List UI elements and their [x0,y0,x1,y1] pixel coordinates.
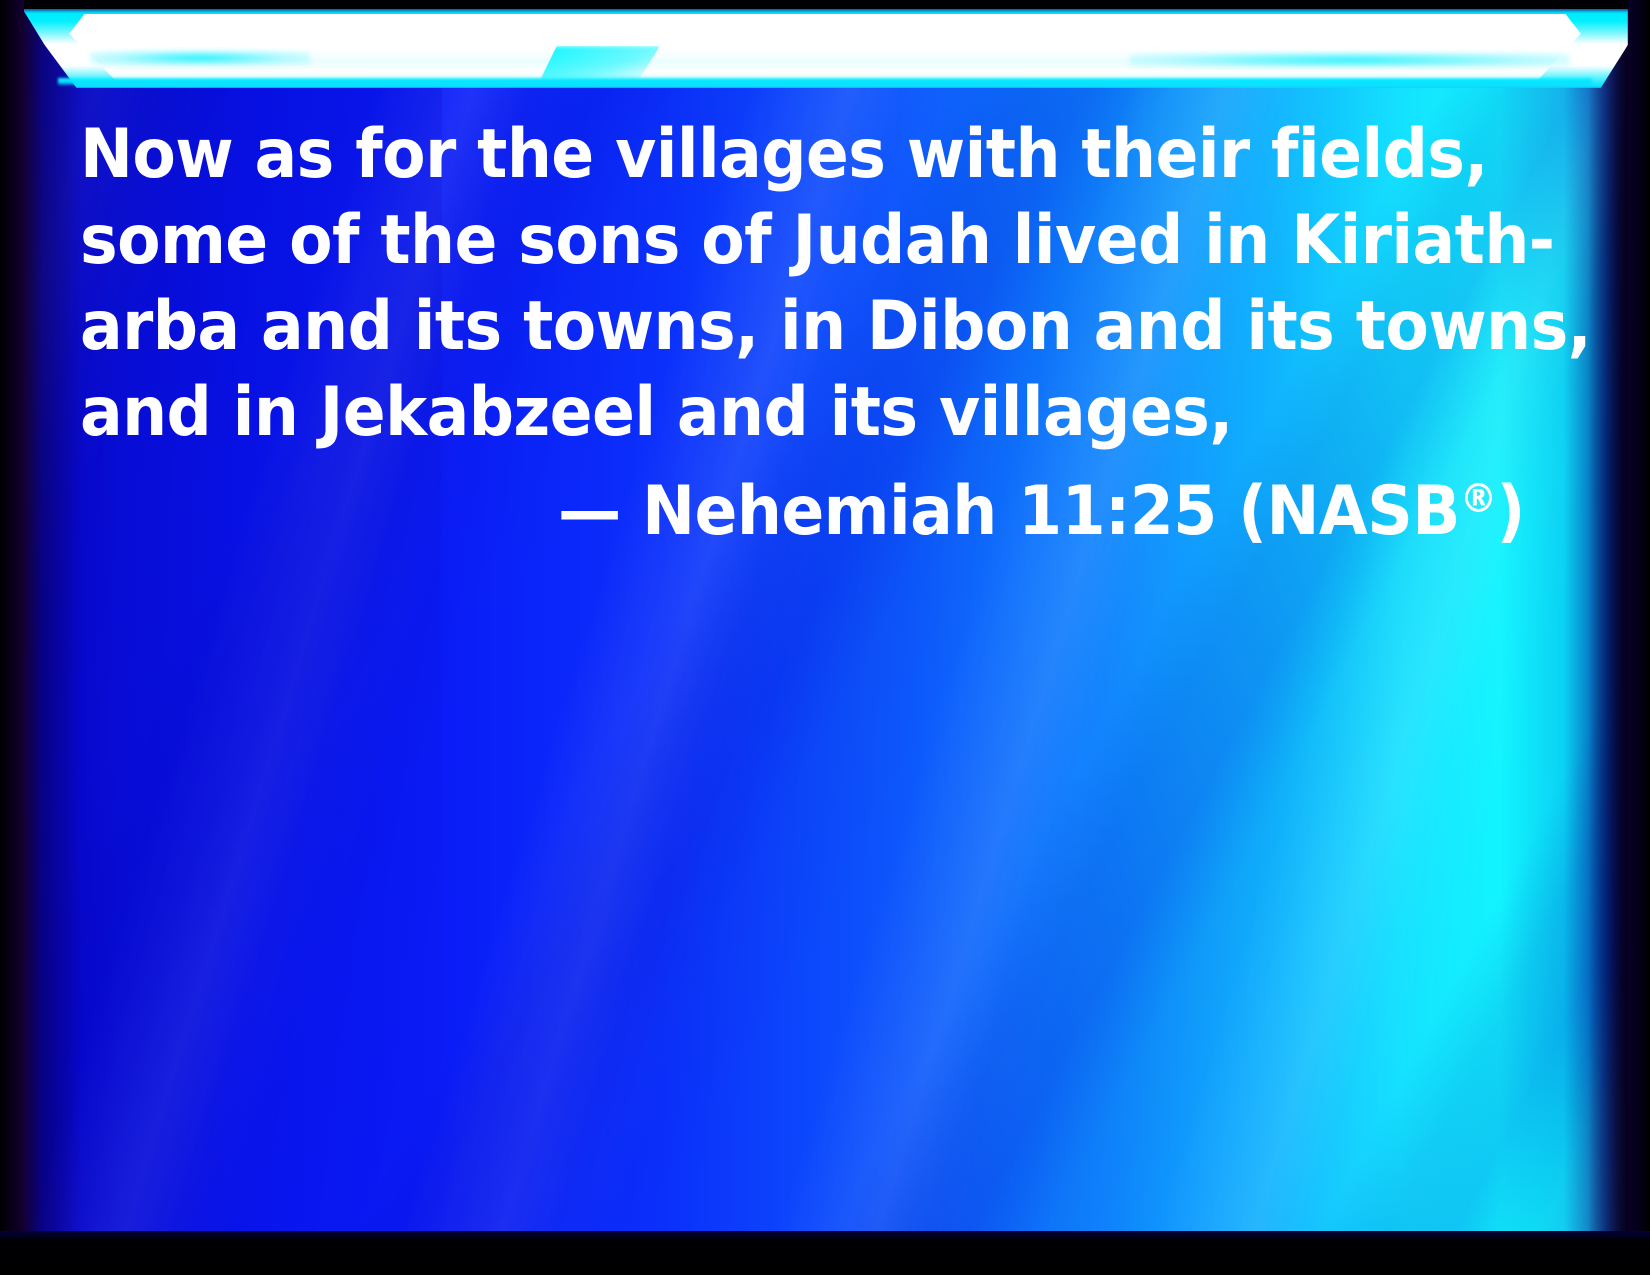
citation-translation-close: ) [1497,472,1525,551]
registered-trademark-icon: ® [1460,476,1497,522]
top-bar-underline [58,78,1592,86]
verse-line-2: some of the sons of Judah lived in Kiria… [0,198,1535,284]
verse-text-block: Now as for the villages with their field… [0,112,1650,555]
verse-citation: — Nehemiah 11:25 (NASB®) [0,456,1535,555]
citation-chapter-verse: 11:25 [1018,472,1217,551]
left-black-border [0,0,24,1275]
verse-line-1: Now as for the villages with their field… [0,112,1535,198]
citation-space [997,472,1018,551]
top-bar-wisp-right [1130,52,1570,68]
top-bar-wisp-left [90,50,310,66]
verse-line-3: arba and its towns, in Dibon and its tow… [0,284,1535,370]
citation-translation-open: (NASB [1217,472,1460,551]
top-black-border [0,0,1650,9]
citation-book: Nehemiah [642,472,997,551]
right-black-border [1628,0,1650,1275]
citation-dash: — [558,472,642,551]
verse-line-4: and in Jekabzeel and its villages, [0,370,1535,456]
verse-slide: Now as for the villages with their field… [0,0,1650,1275]
bottom-black-border [0,1231,1650,1275]
top-glow-bar [0,8,1650,90]
top-bar-white-layer [60,14,1590,80]
